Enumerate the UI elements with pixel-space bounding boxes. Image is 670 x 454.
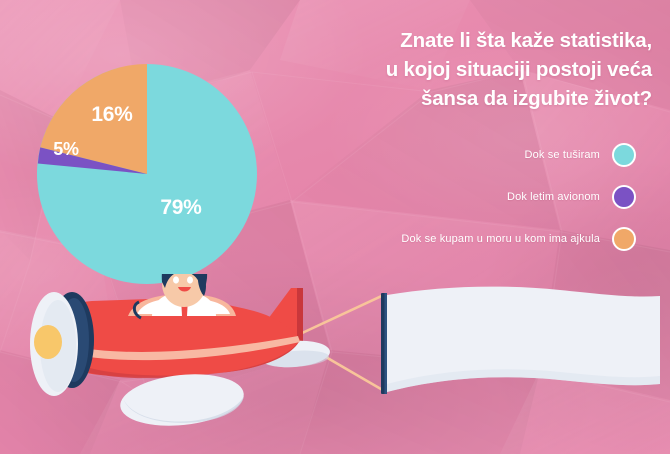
legend-item-avionom[interactable]: Dok letim avionom [336,178,636,216]
infographic-poster: 79% 16% 5% Znate li šta kaže statistika,… [0,0,670,454]
pilot-eye-left-icon [173,276,179,283]
legend-swatch-teal-icon [612,143,636,167]
title-line-2: u kojoj situaciji postoji veća [252,55,652,84]
legend-swatch-orange-icon [612,227,636,251]
title-line-3: šansa da izgubite život? [252,84,652,113]
pie-label-tusiram: 79% [160,196,202,219]
legend-item-tusiram[interactable]: Dok se tuširam [336,136,636,174]
pie-label-ajkula: 16% [91,103,133,126]
pie-chart: 79% 16% 5% [35,62,259,286]
title-line-1: Znate li šta kaže statistika, [252,26,652,55]
propeller-hub-icon [34,325,62,359]
pilot-eye-right-icon [187,276,193,283]
legend-item-ajkula[interactable]: Dok se kupam u moru u kom ima ajkula [336,220,636,258]
banner-pole-highlight-icon [385,293,388,394]
legend-label-ajkula: Dok se kupam u moru u kom ima ajkula [401,233,600,245]
legend-swatch-purple-icon [612,185,636,209]
page-title: Znate li šta kaže statistika, u kojoj si… [252,26,652,113]
pie-label-avionom: 5% [53,139,79,159]
airplane-illustration [0,274,670,454]
legend-label-avionom: Dok letim avionom [507,191,600,203]
chart-legend: Dok se tuširam Dok letim avionom Dok se … [336,136,636,262]
legend-label-tusiram: Dok se tuširam [525,149,600,161]
